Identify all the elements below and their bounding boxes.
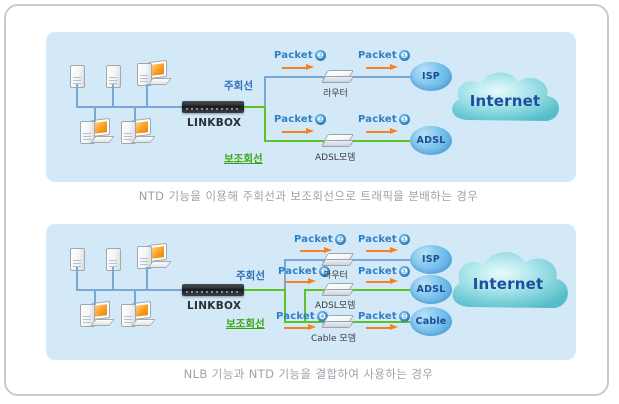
panel-nlb-ntd [46,224,576,360]
diagram-frame: LINKBOX 주회선 보조회선 Packet ❷ Packet ❶ Packe… [4,4,609,396]
panel-ntd [46,32,576,182]
caption-nlb-ntd: NLB 기능과 NTD 기능을 결합하여 사용하는 경우 [6,366,611,382]
caption-ntd: NTD 기능을 이용해 주회선과 보조회선으로 트래픽을 분배하는 경우 [6,188,611,204]
